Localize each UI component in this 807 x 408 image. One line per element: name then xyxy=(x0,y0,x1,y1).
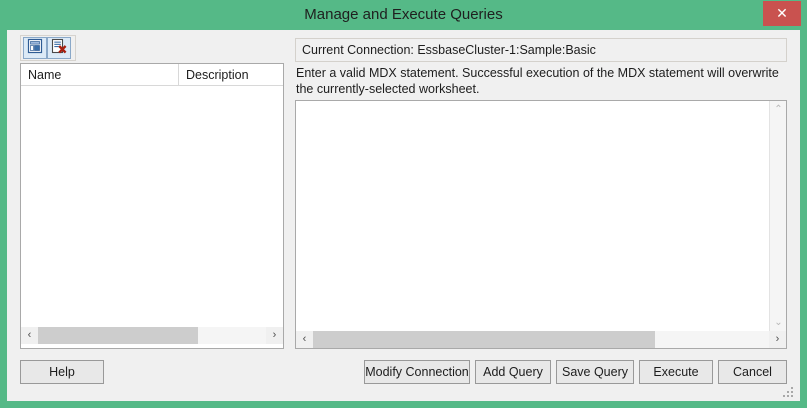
query-toolbar xyxy=(20,35,76,61)
mdx-editor-hscrollbar[interactable]: ‹ › xyxy=(296,331,786,348)
dialog-window: Manage and Execute Queries ✕ xyxy=(0,0,807,408)
query-list-scroll-right-icon[interactable]: › xyxy=(266,327,283,344)
column-header-description[interactable]: Description xyxy=(179,64,283,86)
page-title: Manage and Execute Queries xyxy=(0,0,807,30)
query-list-hscrollbar[interactable]: ‹ › xyxy=(21,327,283,344)
dialog-client-area: Name Description ‹ › Current Connection:… xyxy=(7,30,800,401)
new-query-icon xyxy=(27,38,43,59)
resize-grip-icon[interactable] xyxy=(783,385,796,398)
query-list-panel: Name Description ‹ › xyxy=(20,63,284,349)
query-list-scroll-track[interactable] xyxy=(38,327,266,344)
query-list-header: Name Description xyxy=(21,64,283,86)
mdx-editor-scroll-down-icon[interactable]: ⌄ xyxy=(770,314,787,331)
title-bar: Manage and Execute Queries ✕ xyxy=(0,0,807,30)
column-header-name[interactable]: Name xyxy=(21,64,179,86)
mdx-statement-input[interactable] xyxy=(296,101,769,331)
mdx-editor-scroll-track[interactable] xyxy=(313,331,769,348)
mdx-editor-vscrollbar[interactable]: ⌃ ⌄ xyxy=(769,101,786,331)
cancel-button[interactable]: Cancel xyxy=(718,360,787,384)
instructions-text: Enter a valid MDX statement. Successful … xyxy=(296,65,780,97)
mdx-editor-scroll-up-icon[interactable]: ⌃ xyxy=(770,101,787,118)
delete-query-icon xyxy=(51,38,67,59)
query-list-scroll-thumb[interactable] xyxy=(38,327,198,344)
help-button[interactable]: Help xyxy=(20,360,104,384)
save-query-button[interactable]: Save Query xyxy=(556,360,634,384)
add-query-button[interactable]: Add Query xyxy=(475,360,551,384)
mdx-editor-panel: ⌃ ⌄ ‹ › xyxy=(295,100,787,349)
execute-button[interactable]: Execute xyxy=(639,360,713,384)
mdx-editor-scroll-right-icon[interactable]: › xyxy=(769,331,786,348)
query-list-body[interactable] xyxy=(21,86,283,327)
close-button[interactable]: ✕ xyxy=(763,1,801,26)
delete-query-button[interactable] xyxy=(47,37,71,59)
new-query-button[interactable] xyxy=(23,37,47,59)
close-icon: ✕ xyxy=(776,5,788,21)
mdx-editor-scroll-thumb[interactable] xyxy=(313,331,655,348)
mdx-editor-scroll-left-icon[interactable]: ‹ xyxy=(296,331,313,348)
query-list-scroll-left-icon[interactable]: ‹ xyxy=(21,327,38,344)
modify-connection-button[interactable]: Modify Connection xyxy=(364,360,470,384)
current-connection-field: Current Connection: EssbaseCluster-1:Sam… xyxy=(295,38,787,62)
